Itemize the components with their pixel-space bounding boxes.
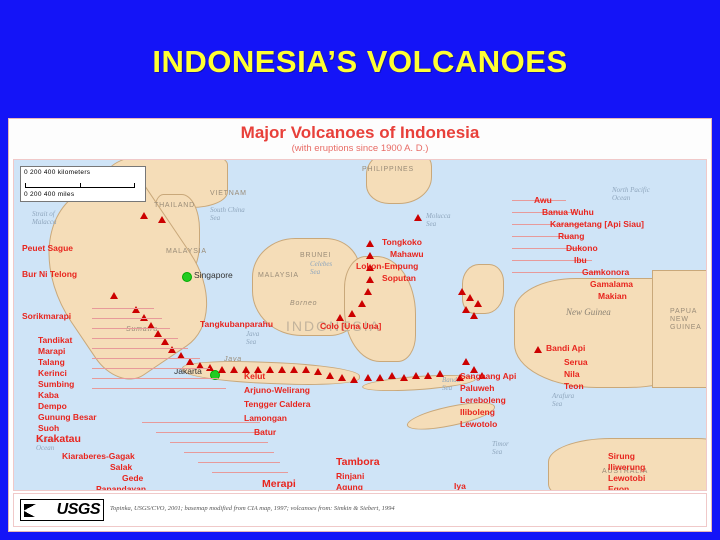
map-title: Major Volcanoes of Indonesia [9,123,711,143]
country-label-thailand: THAILAND [154,202,195,210]
volcano-label-arjuno-welirang: Arjuno-Welirang [244,386,310,396]
usgs-logo: USGS [20,499,104,521]
leader-line [212,472,288,473]
volcano-marker [358,300,366,307]
volcano-label-ruang: Ruang [558,232,584,242]
volcano-marker [466,294,474,301]
volcano-marker [230,366,238,373]
map-subtitle: (with eruptions since 1900 A. D.) [9,143,711,154]
map-header: Major Volcanoes of Indonesia (with erupt… [9,119,711,159]
volcano-marker [364,374,372,381]
volcano-label-lewotolo: Lewotolo [460,420,497,430]
volcano-label-sirung: Sirung [608,452,635,462]
scale-ruler [25,183,135,188]
volcano-label-paluweh: Paluweh [460,384,494,394]
map-source-credit: Topinka, USGS/CVO, 2001; basemap modifie… [110,505,700,512]
country-label-vietnam: VIETNAM [210,190,247,198]
volcano-marker [161,338,169,345]
volcano-marker [154,330,162,337]
region-label-borneo: Borneo [290,300,317,308]
volcano-label-gede: Gede [122,474,143,484]
map-scale-bar: 0 200 400 kilometers 0 200 400 miles [20,166,146,202]
volcano-label-gunung-besar: Gunung Besar [38,413,97,423]
volcano-marker [414,214,422,221]
volcano-label-tangkubanparahu: Tangkubanparahu [200,320,273,330]
volcano-label-sumbing: Sumbing [38,380,74,390]
sea-label-north-pacific-ocean: North PacificOcean [612,186,650,202]
sea-label-south-china-sea: South ChinaSea [210,206,245,222]
leader-line [92,338,178,339]
volcano-label-gamalama: Gamalama [590,280,633,290]
volcano-label-makian: Makian [598,292,627,302]
volcano-label-awu: Awu [534,196,552,206]
leader-line [92,328,170,329]
volcano-label-nila: Nila [564,370,580,380]
volcano-label-krakatau: Krakatau [36,435,81,445]
volcano-marker [110,292,118,299]
volcano-marker [462,358,470,365]
volcano-label-dukono: Dukono [566,244,598,254]
leader-line [92,358,200,359]
volcano-marker [314,368,322,375]
leader-line [92,378,218,379]
map-canvas: 0 200 400 kilometers 0 200 400 miles Str… [13,159,707,491]
sea-label-celebes-sea: CelebesSea [310,260,332,276]
volcano-label-karangetang-api-siau: Karangetang [Api Siau] [550,220,644,230]
leader-line [92,308,154,309]
volcano-label-salak: Salak [110,463,132,473]
volcano-label-sorikmarapi: Sorikmarapi [22,312,71,322]
leader-line [142,422,260,423]
scale-kilometers: 0 200 400 kilometers [24,169,90,176]
landmass-sulawesi [344,256,416,362]
volcano-marker [474,300,482,307]
volcano-marker [278,366,286,373]
volcano-marker [218,366,226,373]
volcano-label-teon: Teon [564,382,584,392]
volcano-label-mahawu: Mahawu [390,250,424,260]
leader-line [170,442,268,443]
volcano-label-ibu: Ibu [574,256,587,266]
country-label-malaysia-peninsular: MALAYSIA [166,248,207,256]
volcano-label-lereboleng: Lereboleng [460,396,506,406]
leader-line [92,348,188,349]
region-label-new-guinea: New Guinea [566,308,611,316]
volcano-marker [302,366,310,373]
volcano-marker [412,372,420,379]
leader-line [92,368,210,369]
volcano-marker [366,276,374,283]
volcano-marker [436,370,444,377]
volcano-marker [424,372,432,379]
volcano-marker [290,366,298,373]
volcano-label-kerinci: Kerinci [38,369,67,379]
volcano-marker [400,374,408,381]
volcano-label-dempo: Dempo [38,402,67,412]
map-credit-bar: USGS Topinka, USGS/CVO, 2001; basemap mo… [13,493,707,527]
volcano-marker [470,312,478,319]
scale-miles: 0 200 400 miles [24,191,74,198]
volcano-label-kaba: Kaba [38,391,59,401]
volcano-label-tandikat: Tandikat [38,336,72,346]
country-label-papua-new-guinea: PAPUANEWGUINEA [670,308,702,332]
volcano-label-kiaraberes-gagak: Kiaraberes-Gagak [62,452,135,462]
volcano-label-marapi: Marapi [38,347,65,357]
volcano-label-tengger-caldera: Tengger Caldera [244,400,310,410]
volcano-marker [388,372,396,379]
volcano-label-sangeang-api: Sangeang Api [460,372,516,382]
volcano-label-batur: Batur [254,428,276,438]
volcano-label-kelut: Kelut [244,372,265,382]
volcano-label-soputan: Soputan [382,274,416,284]
leader-line [198,462,280,463]
leader-line [92,388,226,389]
volcano-label-serua: Serua [564,358,588,368]
leader-line [92,318,162,319]
volcano-marker [338,374,346,381]
volcano-label-bur-ni-telong: Bur Ni Telong [22,270,77,280]
volcano-label-rinjani: Rinjani [336,472,364,482]
volcano-label-papandayan: Papandayan [96,485,146,491]
volcano-marker [326,372,334,379]
volcano-label-lamongan: Lamongan [244,414,287,424]
page-title: INDONESIA’S VOLCANOES [0,44,720,80]
volcano-label-gamkonora: Gamkonora [582,268,629,278]
volcano-marker [336,314,344,321]
volcano-label-iliboleng: Iliboleng [460,408,495,418]
country-label-malaysia-borneo: MALAYSIA [258,272,299,280]
volcano-label-iya: Iya [454,482,466,491]
volcano-marker [186,358,194,365]
volcano-marker [140,212,148,219]
volcano-label-lewotobi: Lewotobi [608,474,645,484]
region-label-java: Java [224,356,242,364]
map-figure: Major Volcanoes of Indonesia (with erupt… [8,118,712,532]
volcano-marker [458,288,466,295]
volcano-label-banua-wuhu: Banua Wuhu [542,208,594,218]
sea-label-arafura-sea: ArafuraSea [552,392,574,408]
volcano-label-tongkoko: Tongkoko [382,238,422,248]
volcano-marker [534,346,542,353]
volcano-marker [158,216,166,223]
volcano-label-tambora: Tambora [336,458,380,468]
volcano-marker [376,374,384,381]
volcano-marker [462,306,470,313]
volcano-label-colo-una-una: Colo [Una Una] [320,322,381,332]
slide-root: INDONESIA’S VOLCANOES Major Volcanoes of… [0,0,720,540]
volcano-label-bandi-api: Bandi Api [546,344,585,354]
volcano-marker [366,240,374,247]
volcano-marker [348,310,356,317]
volcano-label-merapi: Merapi [262,480,296,490]
volcano-label-lokon-empung: Lokon-Empung [356,262,418,272]
city-marker-singapore [182,272,192,282]
leader-line [184,452,274,453]
volcano-marker [364,288,372,295]
volcano-label-iliwerung: Iliwerung [608,463,645,473]
sea-label-molucca-sea: MoluccaSea [426,212,451,228]
country-label-philippines: PHILIPPINES [362,166,414,174]
volcano-label-peuet-sague: Peuet Sague [22,244,73,254]
volcano-marker [366,252,374,259]
volcano-label-talang: Talang [38,358,65,368]
country-label-brunei: BRUNEI [300,252,331,260]
volcano-marker [266,366,274,373]
volcano-label-egon: Egon [608,485,629,491]
sea-label-strait-of-malacca: Strait ofMalacca [32,210,57,226]
leader-line [156,432,264,433]
volcano-label-agung: Agung [336,483,363,491]
volcano-marker [350,376,358,383]
sea-label-java-sea: JavaSea [246,330,259,346]
sea-label-timor-sea: TimorSea [492,440,509,456]
city-label-singapore: Singapore [194,270,233,280]
